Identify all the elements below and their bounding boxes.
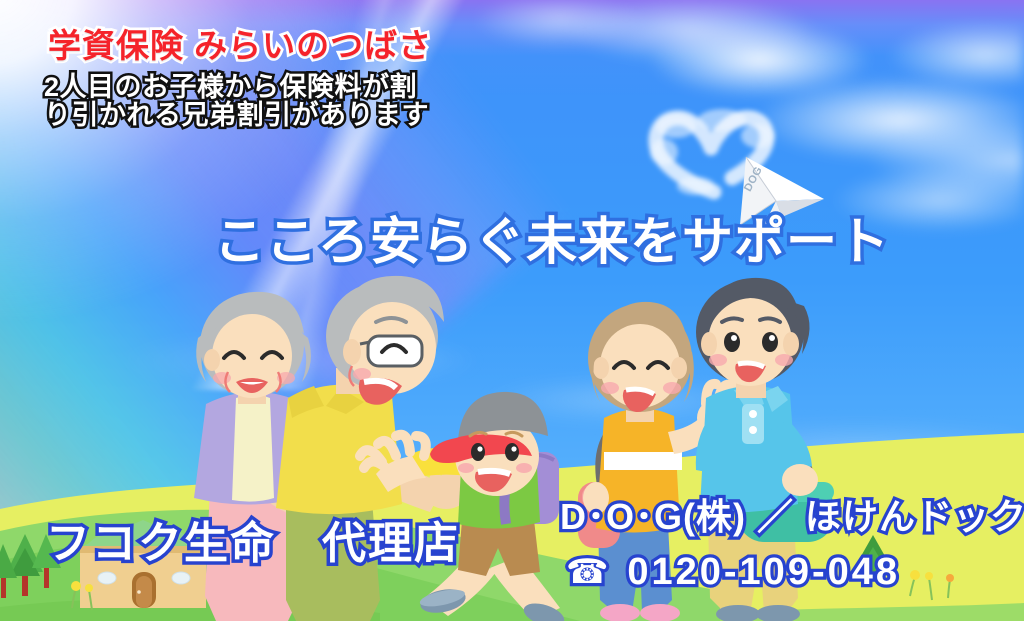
phone-number[interactable]: 0120-109-048 bbox=[627, 551, 900, 594]
main-headline: こころ安らぐ未来をサポート bbox=[214, 213, 890, 270]
phone-row[interactable]: ☎ 0120-109-048 bbox=[566, 551, 900, 594]
promo-subtitle-line-1: 2人目のお子様から保険料が割 bbox=[44, 72, 429, 102]
promo-subtitle-line-2: り引かれる兄弟割引があります bbox=[44, 100, 429, 130]
advertisement-banner: DOG bbox=[0, 0, 1024, 621]
promo-subtitle: 2人目のお子様から保険料が割 り引かれる兄弟割引があります bbox=[44, 72, 429, 128]
company-name: D･O･G(株) ／ ほけんドック bbox=[560, 497, 1024, 537]
agency-name: フコク生命 代理店 bbox=[46, 519, 460, 568]
telephone-icon: ☎ bbox=[566, 555, 611, 589]
promo-title: 学資保険 みらいのつばさ bbox=[48, 28, 432, 65]
